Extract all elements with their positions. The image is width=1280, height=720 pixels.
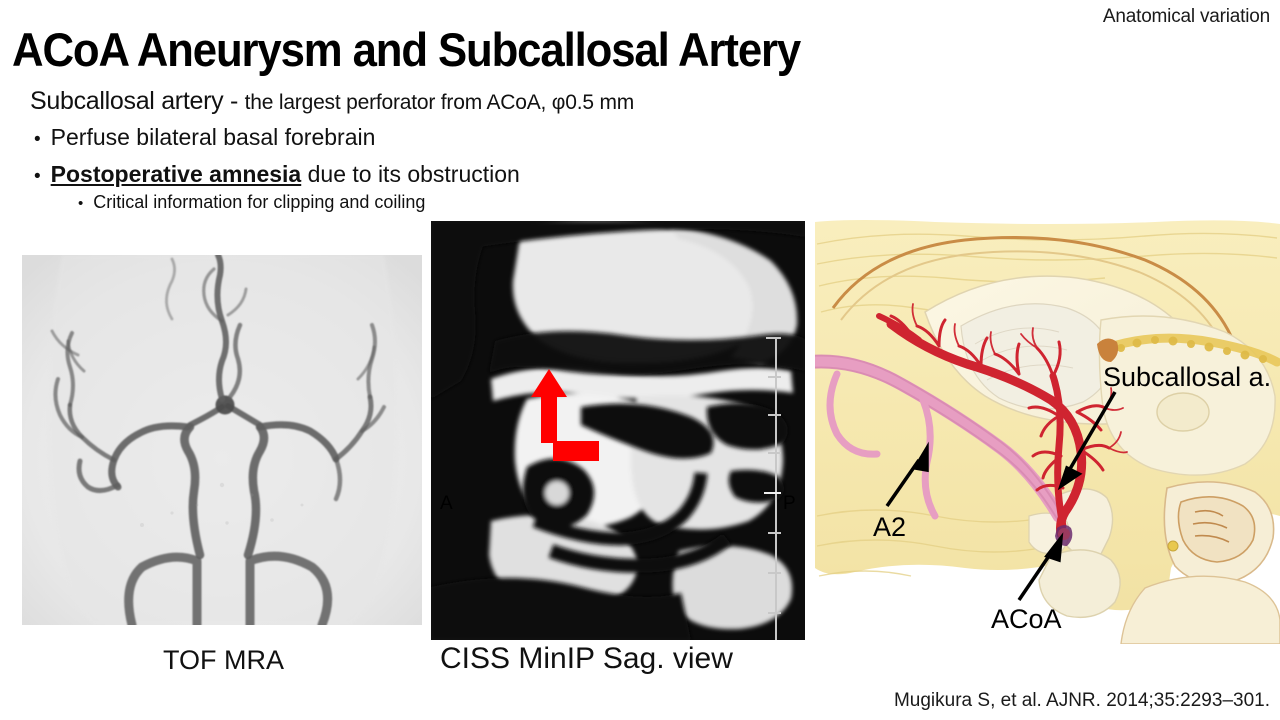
subtitle-lead: Subcallosal artery -: [30, 87, 245, 115]
figure-tof-mra: [22, 255, 422, 625]
ciss-minip-image: A P: [431, 221, 805, 640]
bullet-item-3: • Critical information for clipping and …: [78, 192, 425, 213]
citation: Mugikura S, et al. AJNR. 2014;35:2293–30…: [894, 690, 1270, 712]
tof-mra-image: [22, 255, 422, 625]
label-text-acoa: ACoA: [991, 604, 1062, 634]
bullet-text: Critical information for clipping and co…: [93, 192, 425, 213]
label-text-subcallosal: Subcallosal a.: [1103, 362, 1271, 392]
caption-tof-mra: TOF MRA: [163, 645, 284, 676]
bullet-marker: •: [78, 196, 83, 211]
bullet-text: due to its obstruction: [301, 161, 520, 187]
bullet-item-2: • Postoperative amnesia due to its obstr…: [34, 161, 520, 188]
bullet-text-group: Postoperative amnesia due to its obstruc…: [51, 161, 520, 188]
orientation-marker-anterior: A: [440, 493, 453, 514]
sagittal-anatomy-drawing: Subcallosal a. A2 ACoA: [815, 216, 1280, 644]
bullet-emphasis: Postoperative amnesia: [51, 161, 302, 187]
corner-note: Anatomical variation: [1103, 6, 1270, 28]
slide-root: Anatomical variation ACoA Aneurysm and S…: [0, 0, 1280, 720]
label-text-a2: A2: [873, 512, 906, 542]
bullet-item-1: • Perfuse bilateral basal forebrain: [34, 124, 375, 151]
subtitle: Subcallosal artery - the largest perfora…: [30, 87, 634, 116]
bullet-marker: •: [34, 130, 41, 149]
figure-ciss-minip: A P: [431, 221, 805, 640]
orientation-marker-posterior: P: [783, 493, 796, 514]
subtitle-rest: the largest perforator from ACoA, φ0.5 m…: [245, 91, 634, 114]
bullet-text: Perfuse bilateral basal forebrain: [51, 124, 376, 151]
page-title: ACoA Aneurysm and Subcallosal Artery: [12, 22, 800, 77]
bullet-marker: •: [34, 167, 41, 186]
figure-anatomical-illustration: Subcallosal a. A2 ACoA: [815, 216, 1280, 644]
caption-ciss-minip: CISS MinIP Sag. view: [440, 642, 733, 676]
